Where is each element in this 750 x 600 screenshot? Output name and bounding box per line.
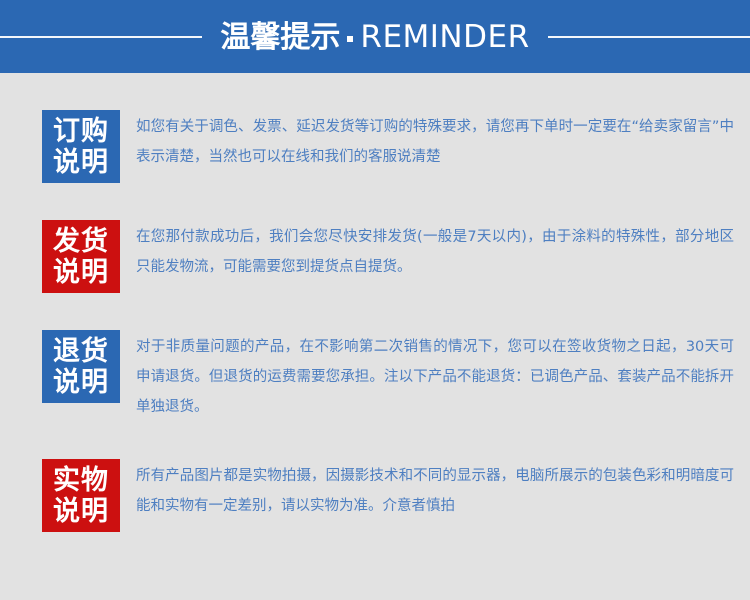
section-ordering-text: 如您有关于调色、发票、延迟发货等订购的特殊要求，请您再下单时一定要在“给卖家留言… — [136, 110, 750, 172]
banner-rule-right-icon — [548, 36, 750, 38]
section-ordering: 订购 说明 如您有关于调色、发票、延迟发货等订购的特殊要求，请您再下单时一定要在… — [0, 110, 750, 183]
badge-ordering-line1: 订购 — [53, 116, 109, 147]
header-banner-inner: 温馨提示 REMINDER — [0, 0, 750, 73]
section-product-photos-text: 所有产品图片都是实物拍摄，因摄影技术和不同的显示器，电脑所展示的包装色彩和明暗度… — [136, 459, 750, 521]
section-shipping: 发货 说明 在您那付款成功后，我们会您尽快安排发货(一般是7天以内)，由于涂料的… — [0, 220, 750, 293]
section-shipping-text: 在您那付款成功后，我们会您尽快安排发货(一般是7天以内)，由于涂料的特殊性，部分… — [136, 220, 750, 282]
badge-shipping: 发货 说明 — [42, 220, 120, 293]
section-ordering-paragraph: 如您有关于调色、发票、延迟发货等订购的特殊要求，请您再下单时一定要在“给卖家留言… — [136, 112, 734, 172]
badge-returns: 退货 说明 — [42, 330, 120, 403]
banner-rule-left-icon — [0, 36, 202, 38]
page-title: 温馨提示 REMINDER — [220, 22, 529, 53]
section-returns-paragraph: 对于非质量问题的产品，在不影响第二次销售的情况下，您可以在签收货物之日起，30天… — [136, 332, 734, 422]
badge-product-photos: 实物 说明 — [42, 459, 120, 532]
section-shipping-paragraph: 在您那付款成功后，我们会您尽快安排发货(一般是7天以内)，由于涂料的特殊性，部分… — [136, 222, 734, 282]
section-product-photos-paragraph: 所有产品图片都是实物拍摄，因摄影技术和不同的显示器，电脑所展示的包装色彩和明暗度… — [136, 461, 734, 521]
title-separator-dot-icon — [347, 36, 353, 42]
badge-product-photos-line2: 说明 — [53, 496, 109, 527]
section-product-photos: 实物 说明 所有产品图片都是实物拍摄，因摄影技术和不同的显示器，电脑所展示的包装… — [0, 459, 750, 532]
sections-list: 订购 说明 如您有关于调色、发票、延迟发货等订购的特殊要求，请您再下单时一定要在… — [0, 110, 750, 532]
badge-shipping-line2: 说明 — [53, 257, 109, 288]
badge-product-photos-line1: 实物 — [53, 465, 109, 496]
page-title-chinese: 温馨提示 — [220, 23, 340, 53]
badge-returns-line2: 说明 — [53, 367, 109, 398]
badge-ordering-line2: 说明 — [53, 147, 109, 178]
badge-shipping-line1: 发货 — [53, 226, 109, 257]
badge-ordering: 订购 说明 — [42, 110, 120, 183]
page-title-english: REMINDER — [360, 22, 529, 53]
badge-returns-line1: 退货 — [53, 336, 109, 367]
header-banner: 温馨提示 REMINDER — [0, 0, 750, 73]
reminder-page: 温馨提示 REMINDER 订购 说明 如您有关于调色、发票、延迟发货等订购的特… — [0, 0, 750, 600]
section-returns: 退货 说明 对于非质量问题的产品，在不影响第二次销售的情况下，您可以在签收货物之… — [0, 330, 750, 422]
section-returns-text: 对于非质量问题的产品，在不影响第二次销售的情况下，您可以在签收货物之日起，30天… — [136, 330, 750, 422]
